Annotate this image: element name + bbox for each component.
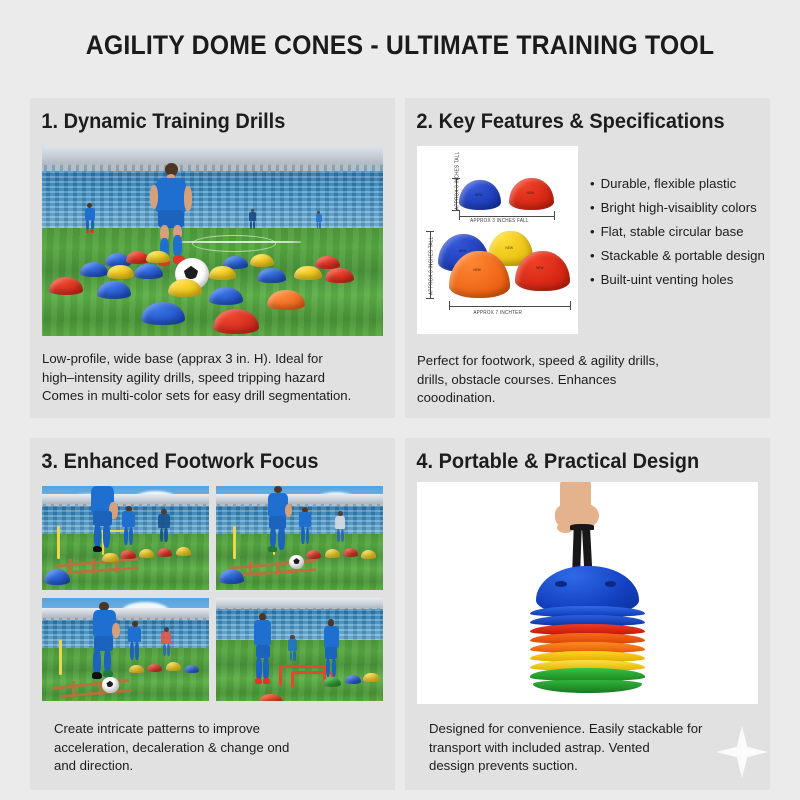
- drill-photo-4: [216, 598, 383, 701]
- panel-3-caption: Create intricate patterns to improve acc…: [42, 720, 426, 776]
- diagram-cone-dimensions: NEW NEW APPROX 3 INCHES TALL APPROX 3 IN…: [417, 146, 578, 334]
- dome-cone: [97, 281, 131, 299]
- dim-line-horizontal-top: [459, 216, 554, 217]
- dim-tick: [554, 211, 555, 220]
- dim-tick: [426, 298, 434, 299]
- dome-cone: [250, 254, 274, 266]
- product-photo: [417, 482, 758, 704]
- cone-brand-mark: NEW: [473, 268, 480, 272]
- dome-cone: [294, 266, 321, 280]
- cone-brand-mark: NEW: [506, 246, 513, 250]
- panel-1-caption: Low-profile, wide base (apprax 3 in. H).…: [30, 350, 419, 406]
- infographic-page: AGILITY DOME CONES - ULTIMATE TRAINING T…: [0, 0, 800, 800]
- background-player: [83, 203, 97, 233]
- background-player: [248, 209, 257, 230]
- spec-cone-red-large: [515, 251, 570, 290]
- dim-label-fall: APPROX 3 INCHES FALL: [470, 218, 529, 224]
- dome-cone: [107, 265, 134, 279]
- background-player: [315, 211, 323, 230]
- stadium-scene: [42, 146, 383, 336]
- vent-hole: [555, 581, 567, 587]
- page-title: AGILITY DOME CONES - ULTIMATE TRAINING T…: [32, 30, 768, 61]
- carry-strap-loop: [570, 524, 594, 530]
- panel-4-heading: 4. Portable & Practical Design: [405, 438, 752, 474]
- dim-line-horizontal-bottom: [449, 306, 570, 307]
- spec-diagram: NEW NEW APPROX 3 INCHES TALL APPROX 3 IN…: [417, 146, 578, 334]
- vent-hole: [605, 581, 617, 587]
- cone-stack-base-green: [533, 680, 642, 693]
- dim-tick: [426, 231, 434, 232]
- photo-grid: [42, 486, 383, 701]
- stadium-roof: [42, 146, 383, 173]
- feature-bullet: Bright high-visaiblity colors: [590, 196, 780, 220]
- dome-cone: [267, 290, 305, 310]
- feature-bullet: Flat, stable circular base: [590, 220, 780, 244]
- dim-tick: [459, 211, 460, 220]
- feature-bullet-list: Durable, flexible plastic Bright high-vi…: [590, 172, 780, 292]
- feature-bullet: Built-uint venting holes: [590, 268, 780, 292]
- dome-cone: [213, 309, 259, 334]
- dim-tick: [449, 301, 450, 310]
- cone-brand-mark: NEW: [526, 191, 533, 195]
- feature-bullet: Stackable & portable design: [590, 244, 780, 268]
- panel-2-caption: Perfect for footwork, speed & agility dr…: [405, 352, 794, 408]
- dim-label-side-height: APPROX 3 INCHES TALL: [428, 236, 434, 294]
- dome-cone: [49, 277, 83, 295]
- cone-brand-mark: NEW: [536, 266, 543, 270]
- panel-2-heading: 2. Key Features & Specifications: [405, 98, 752, 134]
- panel-1-heading: 1. Dynamic Training Drills: [30, 98, 377, 134]
- feature-bullet: Durable, flexible plastic: [590, 172, 780, 196]
- photo-player-dribbling-through-dome-cones: [42, 146, 383, 336]
- panel-3-heading: 3. Enhanced Footwork Focus: [30, 438, 377, 474]
- dim-label-width: APPROX 7 INCHTER: [473, 309, 522, 315]
- drill-photo-2: [216, 486, 383, 590]
- drill-photo-1: [42, 486, 209, 590]
- photo-grid-four-footwork-drills: [42, 486, 383, 701]
- dim-tick: [570, 301, 571, 310]
- dim-label-top-height: APPROX 3 INCHES TALL: [454, 151, 460, 209]
- cone-stack-layer-green: [530, 668, 646, 680]
- photo-hand-carrying-stacked-cones-with-strap: [417, 482, 758, 704]
- cone-brand-mark: NEW: [475, 193, 482, 197]
- cone-brand-mark: NEW: [459, 249, 466, 253]
- dome-cone: [146, 251, 170, 263]
- drill-photo-3: [42, 598, 209, 701]
